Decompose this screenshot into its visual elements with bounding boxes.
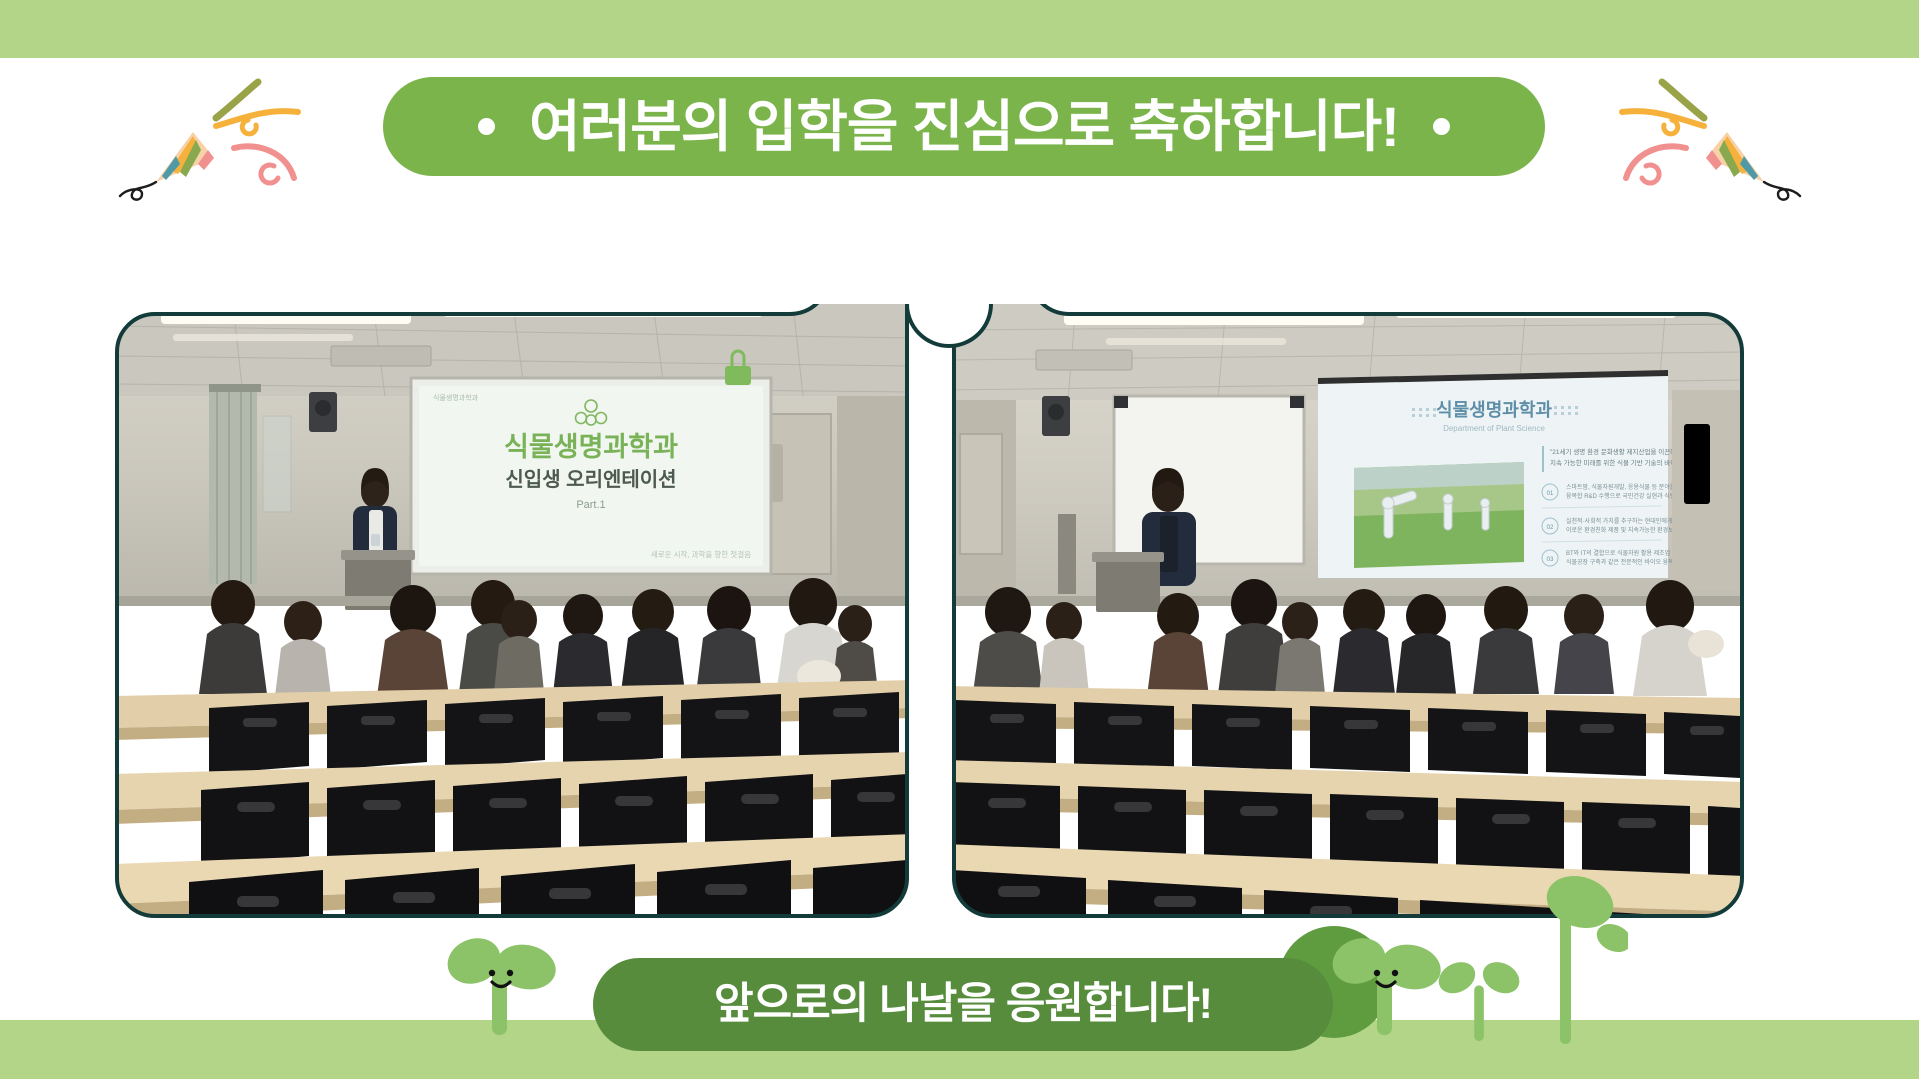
party-popper-icon	[1592, 60, 1822, 210]
tall-sprout-icon	[1518, 872, 1628, 1047]
top-green-band	[0, 0, 1919, 58]
poster-canvas: 여러분의 입학을 진심으로 축하합니다!	[0, 0, 1919, 1079]
small-sprout-icon	[1432, 945, 1528, 1045]
svg-text:03: 03	[1547, 557, 1554, 563]
lecture-photo-right: 식물생명과학과 Department of Plant Science	[946, 304, 1746, 926]
photo-strip: 식물생명과학과 신입생 오리엔테이션 Part.1 식물생명과학과 새로운 시작…	[113, 304, 1825, 926]
svg-text:식물생명과학과: 식물생명과학과	[1436, 399, 1552, 420]
svg-text:식물생명과학과: 식물생명과학과	[433, 393, 479, 402]
title-banner: 여러분의 입학을 진심으로 축하합니다!	[383, 77, 1545, 176]
svg-text:02: 02	[1547, 525, 1554, 531]
lecture-photo-left: 식물생명과학과 신입생 오리엔테이션 Part.1 식물생명과학과 새로운 시작…	[113, 304, 913, 926]
bullet-dot-icon	[478, 118, 495, 135]
smiling-sprout-icon	[440, 925, 560, 1045]
svg-text:Department of Plant Science: Department of Plant Science	[1443, 424, 1545, 433]
smiling-sprout-icon	[1325, 925, 1445, 1045]
svg-text:"21세기 생명 환경 문화생활 제지산업을 이끈다.": "21세기 생명 환경 문화생활 제지산업을 이끈다."	[1550, 447, 1681, 456]
svg-text:Part.1: Part.1	[576, 499, 605, 511]
svg-text:새로운 시작, 과학을 향한 첫걸음: 새로운 시작, 과학을 향한 첫걸음	[651, 549, 751, 559]
sub-banner: 앞으로의 나날을 응원합니다!	[593, 958, 1333, 1051]
sub-banner-text: 앞으로의 나날을 응원합니다!	[714, 983, 1212, 1026]
party-popper-icon	[98, 60, 328, 210]
page-title: 여러분의 입학을 진심으로 축하합니다!	[529, 99, 1399, 155]
bullet-dot-icon	[1433, 118, 1450, 135]
svg-text:01: 01	[1547, 491, 1554, 497]
svg-text:식물생명과학과: 식물생명과학과	[504, 432, 678, 462]
svg-text:신입생 오리엔테이션: 신입생 오리엔테이션	[505, 468, 676, 491]
